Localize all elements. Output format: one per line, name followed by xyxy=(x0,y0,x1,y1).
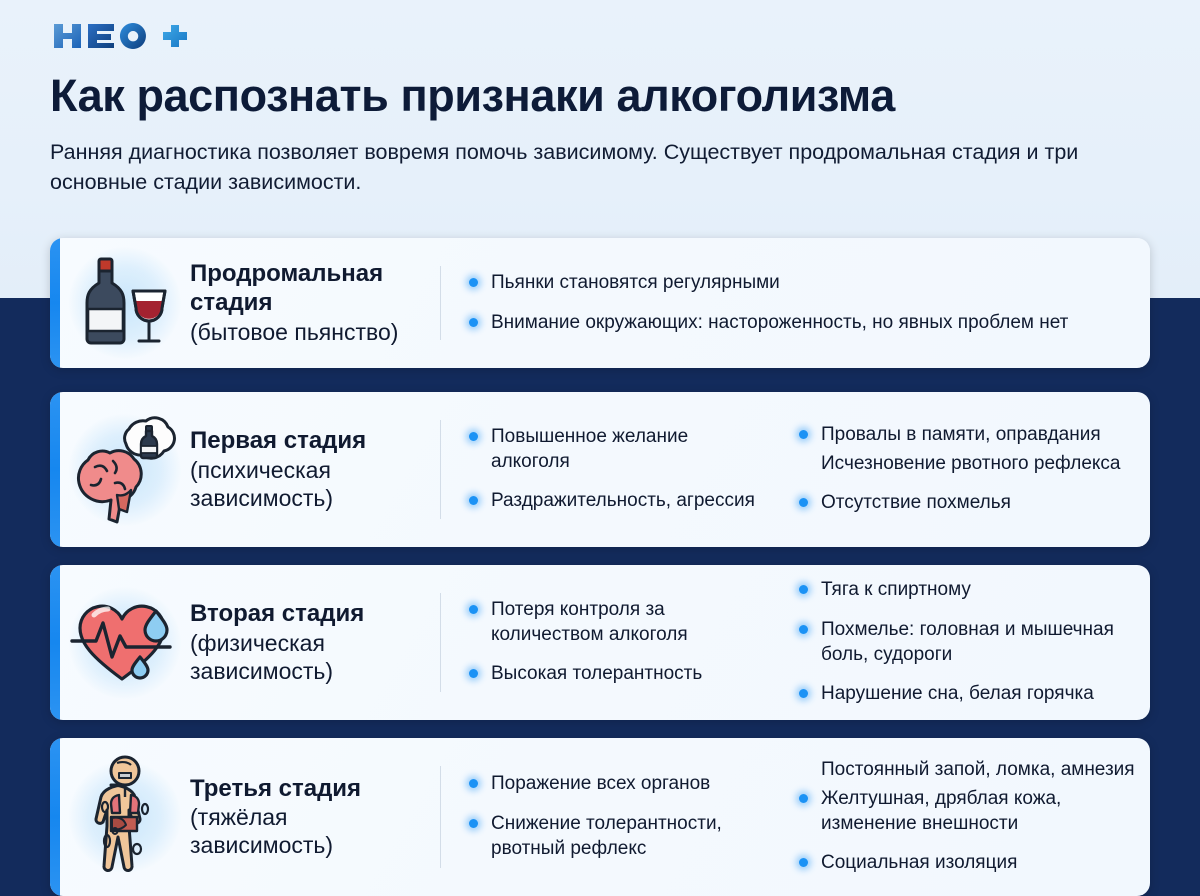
list-item: Раздражительность, агрессия xyxy=(465,489,757,514)
list-item: Исчезновение рвотного рефлекса xyxy=(795,452,1136,477)
bullet-dot-icon xyxy=(469,605,478,614)
card-accent-bar xyxy=(50,238,60,368)
list-item-text: Нарушение сна, белая горячка xyxy=(821,683,1094,704)
bullet-dot-icon xyxy=(799,858,808,867)
bullet-column: Потеря контроля за количеством алкоголя … xyxy=(441,598,771,687)
card-icon-cell xyxy=(60,565,190,720)
card-title-cell: Первая стадия (психическая зависимость) xyxy=(190,392,440,547)
bullet-dot-icon xyxy=(469,496,478,505)
list-item: Провалы в памяти, оправдания xyxy=(795,423,1136,448)
stage-card-third[interactable]: Третья стадия (тяжёлая зависимость) Пора… xyxy=(50,738,1150,896)
bullet-dot-icon xyxy=(469,779,478,788)
list-item-text: Тяга к спиртному xyxy=(821,579,971,600)
list-item-text: Внимание окружающих: настороженность, но… xyxy=(491,312,1068,333)
bullet-column: Постоянный запой, ломка, амнезия Желтушн… xyxy=(771,758,1150,876)
list-item: Похмелье: головная и мышечная боль, судо… xyxy=(795,618,1136,667)
card-icon-cell xyxy=(60,738,190,896)
card-accent-bar xyxy=(50,392,60,547)
bullet-list: Повышенное желание алкоголя Раздражитель… xyxy=(465,425,757,514)
list-item-text: Похмелье: головная и мышечная боль, судо… xyxy=(821,619,1114,665)
bullet-dot-icon xyxy=(799,794,808,803)
list-item: Нарушение сна, белая горячка xyxy=(795,682,1136,707)
stage-name: Продромальная стадия xyxy=(190,260,422,318)
heart-with-pulse-and-drop-icon xyxy=(70,593,180,693)
list-item-text: Социальная изоляция xyxy=(821,852,1017,873)
list-item: Отсутствие похмелья xyxy=(795,491,1136,516)
brand-logo xyxy=(50,16,200,56)
bullet-column: Провалы в памяти, оправдания Исчезновени… xyxy=(771,423,1150,516)
bullet-column: Поражение всех органов Снижение толерант… xyxy=(441,772,771,861)
bullet-list: Потеря контроля за количеством алкоголя … xyxy=(465,598,757,687)
headline-block: Как распознать признаки алкоголизма Ранн… xyxy=(50,72,1160,198)
list-item-text: Исчезновение рвотного рефлекса xyxy=(821,453,1120,474)
bullet-dot-icon xyxy=(799,430,808,439)
list-item-text: Высокая толерантность xyxy=(491,663,702,684)
card-title-cell: Третья стадия (тяжёлая зависимость) xyxy=(190,738,440,896)
bullet-dot-icon xyxy=(469,278,478,287)
card-accent-bar xyxy=(50,738,60,896)
stage-subtitle: (психическая зависимость) xyxy=(190,456,422,512)
list-item: Постоянный запой, ломка, амнезия xyxy=(795,758,1136,783)
list-item-text: Поражение всех органов xyxy=(491,773,710,794)
list-item: Социальная изоляция xyxy=(795,851,1136,876)
bullet-column: Пьянки становятся регулярными Внимание о… xyxy=(441,271,1150,335)
stage-card-first[interactable]: Первая стадия (психическая зависимость) … xyxy=(50,392,1150,547)
bullet-column: Тяга к спиртному Похмелье: головная и мы… xyxy=(771,578,1150,707)
list-item-text: Снижение толерантности, рвотный рефлекс xyxy=(491,813,722,859)
stage-subtitle: (тяжёлая зависимость) xyxy=(190,803,422,859)
list-item: Желтушная, дряблая кожа, изменение внешн… xyxy=(795,787,1136,836)
stage-subtitle: (бытовое пьянство) xyxy=(190,318,422,346)
bullet-dot-icon xyxy=(799,689,808,698)
bullet-dot-icon xyxy=(469,669,478,678)
stage-name: Вторая стадия xyxy=(190,600,422,629)
stage-card-second[interactable]: Вторая стадия (физическая зависимость) П… xyxy=(50,565,1150,720)
brain-with-bottle-thought-icon xyxy=(69,411,181,529)
neo-plus-logo-icon xyxy=(50,16,200,56)
stage-card-prodromal[interactable]: Продромальная стадия (бытовое пьянство) … xyxy=(50,238,1150,368)
list-item: Потеря контроля за количеством алкоголя xyxy=(465,598,757,647)
page-subtitle: Ранняя диагностика позволяет вовремя пом… xyxy=(50,137,1080,198)
list-item-text: Постоянный запой, ломка, амнезия xyxy=(821,759,1135,780)
list-item-text: Потеря контроля за количеством алкоголя xyxy=(491,599,688,645)
bullet-list: Провалы в памяти, оправдания Исчезновени… xyxy=(795,423,1136,516)
list-item-text: Отсутствие похмелья xyxy=(821,492,1011,513)
card-icon-cell xyxy=(60,392,190,547)
list-item-text: Провалы в памяти, оправдания xyxy=(821,424,1101,445)
list-item: Поражение всех органов xyxy=(465,772,757,797)
bullet-dot-icon xyxy=(799,498,808,507)
human-body-organs-icon xyxy=(79,755,171,879)
card-title-cell: Вторая стадия (физическая зависимость) xyxy=(190,565,440,720)
bullet-dot-icon xyxy=(799,625,808,634)
stage-name: Первая стадия xyxy=(190,427,422,456)
bullet-dot-icon xyxy=(469,432,478,441)
list-item: Внимание окружающих: настороженность, но… xyxy=(465,311,1136,336)
bullet-dot-icon xyxy=(469,318,478,327)
stage-name: Третья стадия xyxy=(190,775,422,804)
list-item-text: Повышенное желание алкоголя xyxy=(491,426,688,472)
card-icon-cell xyxy=(60,238,190,368)
list-item-text: Раздражительность, агрессия xyxy=(491,490,755,511)
page-title: Как распознать признаки алкоголизма xyxy=(50,72,1160,121)
stage-subtitle: (физическая зависимость) xyxy=(190,629,422,685)
bullet-list: Пьянки становятся регулярными Внимание о… xyxy=(465,271,1136,335)
card-accent-bar xyxy=(50,565,60,720)
list-item: Повышенное желание алкоголя xyxy=(465,425,757,474)
wine-bottle-and-glass-icon xyxy=(77,253,173,353)
list-item: Пьянки становятся регулярными xyxy=(465,271,1136,296)
bullet-list: Постоянный запой, ломка, амнезия Желтушн… xyxy=(795,758,1136,876)
list-item-text: Пьянки становятся регулярными xyxy=(491,272,780,293)
list-item: Тяга к спиртному xyxy=(795,578,1136,603)
list-item-text: Желтушная, дряблая кожа, изменение внешн… xyxy=(821,788,1061,834)
bullet-list: Поражение всех органов Снижение толерант… xyxy=(465,772,757,861)
list-item: Высокая толерантность xyxy=(465,662,757,687)
bullet-list: Тяга к спиртному Похмелье: головная и мы… xyxy=(795,578,1136,707)
bullet-column: Повышенное желание алкоголя Раздражитель… xyxy=(441,425,771,514)
bullet-dot-icon xyxy=(469,819,478,828)
bullet-dot-icon xyxy=(799,585,808,594)
card-title-cell: Продромальная стадия (бытовое пьянство) xyxy=(190,238,440,368)
list-item: Снижение толерантности, рвотный рефлекс xyxy=(465,812,757,861)
